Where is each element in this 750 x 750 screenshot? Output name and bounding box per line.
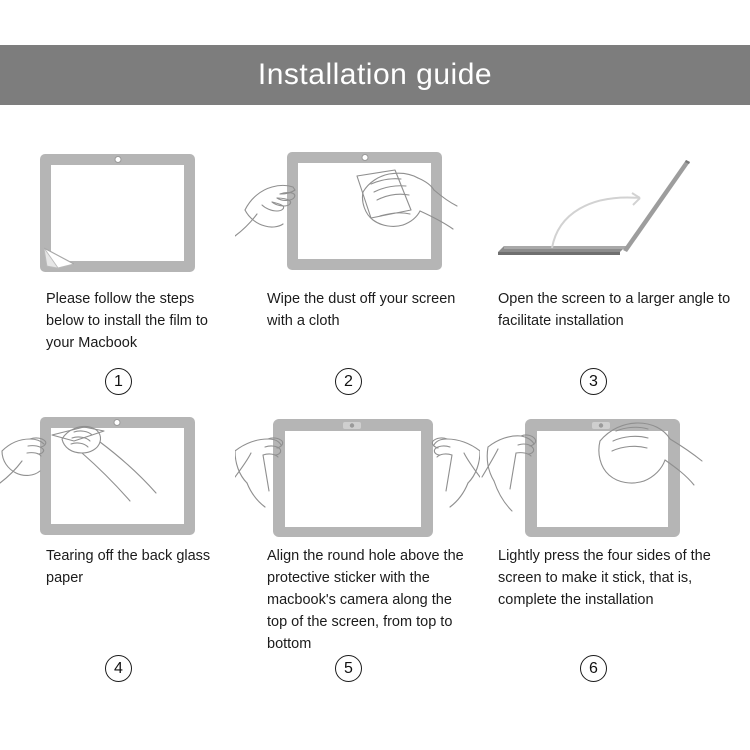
step-4-illustration [0,405,235,540]
step-card-4: Tearing off the back glass paper 4 [0,405,235,675]
step-card-1: Please follow the steps below to install… [0,140,235,405]
step-3-illustration [480,140,750,275]
step-6-illustration [480,405,750,540]
step-2-number: 2 [335,368,362,395]
step-4-caption: Tearing off the back glass paper [0,545,235,589]
step-5-caption: Align the round hole above the protectiv… [235,545,480,655]
laptop-side-view-opening-screen-icon [480,140,750,275]
step-6-number: 6 [580,655,607,682]
hand-pressing-film-edges-icon [480,405,750,540]
step-1-caption: Please follow the steps below to install… [0,288,235,354]
page-title: Installation guide [258,60,492,90]
step-5-number: 5 [335,655,362,682]
step-card-5: Align the round hole above the protectiv… [235,405,480,675]
steps-grid: Please follow the steps below to install… [0,140,750,720]
installation-guide-page: Installation guide Please follow the ste… [0,0,750,750]
step-3-number: 3 [580,368,607,395]
hands-tearing-back-paper-icon [0,405,235,540]
step-4-number: 4 [105,655,132,682]
step-6-caption: Lightly press the four sides of the scre… [480,545,750,611]
step-card-6: Lightly press the four sides of the scre… [480,405,750,675]
step-2-illustration [235,140,480,275]
two-hands-aligning-film-icon [235,405,480,540]
step-card-3: Open the screen to a larger angle to fac… [480,140,750,405]
step-2-caption: Wipe the dust off your screen with a clo… [235,288,480,332]
step-1-illustration [0,140,235,275]
step-3-caption: Open the screen to a larger angle to fac… [480,288,750,332]
step-5-illustration [235,405,480,540]
step-1-number: 1 [105,368,132,395]
header-banner: Installation guide [0,45,750,105]
hand-wiping-screen-with-cloth-icon [235,140,480,275]
screen-with-peeling-film-corner-icon [0,140,235,275]
step-card-2: Wipe the dust off your screen with a clo… [235,140,480,405]
